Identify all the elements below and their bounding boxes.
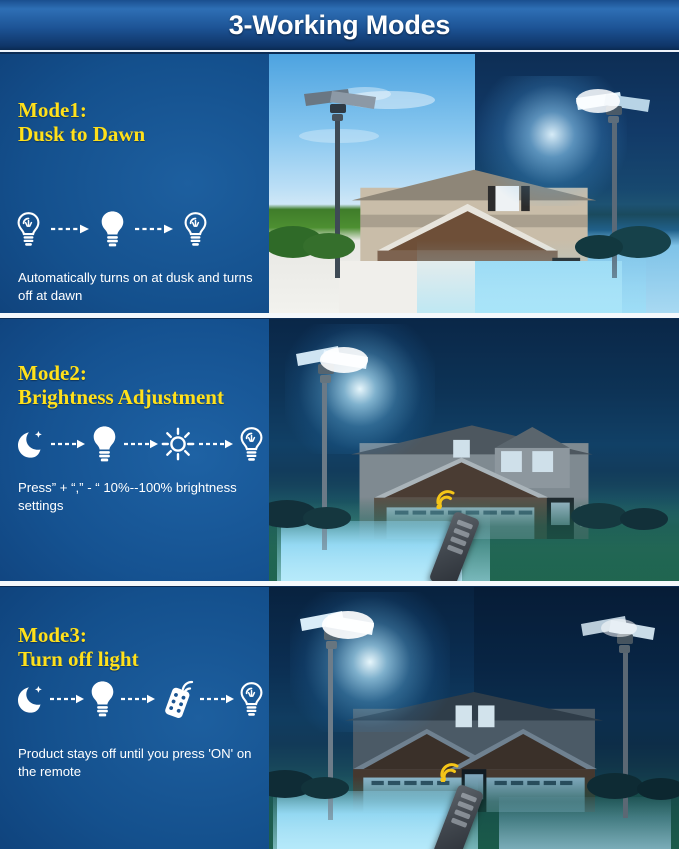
infographic-root: 3-Working Modes Mode1: Dusk to Dawn [0, 0, 679, 849]
arrow-dashed-icon [120, 438, 162, 450]
arrow-dashed-icon [47, 693, 87, 705]
remote-control-icon [159, 679, 197, 719]
mode-2-icon-sequence [14, 424, 266, 464]
section-divider [0, 313, 679, 318]
arrow-dashed-icon [43, 223, 97, 235]
mode-3-description: Product stays off until you press 'ON' o… [18, 745, 262, 781]
night-brightness-photo [269, 319, 679, 581]
arrow-dashed-icon [118, 693, 158, 705]
mode-3-icon-sequence [14, 679, 266, 719]
bulb-filled-icon [89, 424, 120, 464]
day-night-split-photo [269, 54, 679, 313]
mode-1-text-column: Mode1: Dusk to Dawn [0, 54, 269, 313]
mode-2-description: Press” + “,” - “ 10%--100% brightness se… [18, 479, 258, 515]
mode-3-text-column: Mode3: Turn off light [0, 587, 269, 849]
mode-1-description: Automatically turns on at dusk and turns… [18, 269, 254, 305]
bulb-outline-icon [237, 680, 266, 718]
remote-button[interactable] [450, 536, 467, 546]
moon-icon [14, 428, 47, 460]
mode-3-label: Mode3: [18, 623, 87, 647]
mode-1-icon-sequence [14, 209, 210, 249]
bulb-filled-icon [87, 679, 118, 719]
tree-line [269, 758, 679, 804]
section-divider [0, 581, 679, 586]
mode-panel-3: Mode3: Turn off light [0, 587, 679, 849]
sun-icon [161, 427, 195, 461]
remote-button[interactable] [454, 809, 471, 819]
arrow-dashed-icon [128, 223, 182, 235]
night-remote-off-photo [269, 587, 679, 849]
mode-3-title: Turn off light [18, 647, 139, 671]
tree-line [269, 214, 679, 264]
arrow-dashed-icon [195, 438, 237, 450]
header-banner: 3-Working Modes [0, 0, 679, 52]
mode-2-heading: Mode2: Brightness Adjustment [18, 361, 224, 410]
bulb-outline-icon [181, 210, 210, 248]
mode-2-title: Brightness Adjustment [18, 385, 224, 409]
mode-1-heading: Mode1: Dusk to Dawn [18, 98, 145, 147]
mode-3-heading: Mode3: Turn off light [18, 623, 139, 672]
page-title: 3-Working Modes [229, 10, 451, 41]
bulb-outline-icon [14, 210, 43, 248]
mode-1-label: Mode1: [18, 98, 87, 122]
moon-icon [14, 683, 47, 715]
mode-2-text-column: Mode2: Brightness Adjustment [0, 319, 269, 581]
remote-button[interactable] [451, 817, 468, 827]
bulb-filled-icon [97, 209, 128, 249]
mode-2-label: Mode2: [18, 361, 87, 385]
arrow-dashed-icon [47, 438, 89, 450]
arrow-dashed-icon [197, 693, 237, 705]
tree-line [269, 488, 679, 534]
remote-button[interactable] [447, 544, 464, 554]
bulb-outline-icon [237, 425, 266, 463]
mode-panel-1: Mode1: Dusk to Dawn [0, 54, 679, 313]
mode-1-title: Dusk to Dawn [18, 122, 145, 146]
mode-panel-2: Mode2: Brightness Adjustment [0, 319, 679, 581]
